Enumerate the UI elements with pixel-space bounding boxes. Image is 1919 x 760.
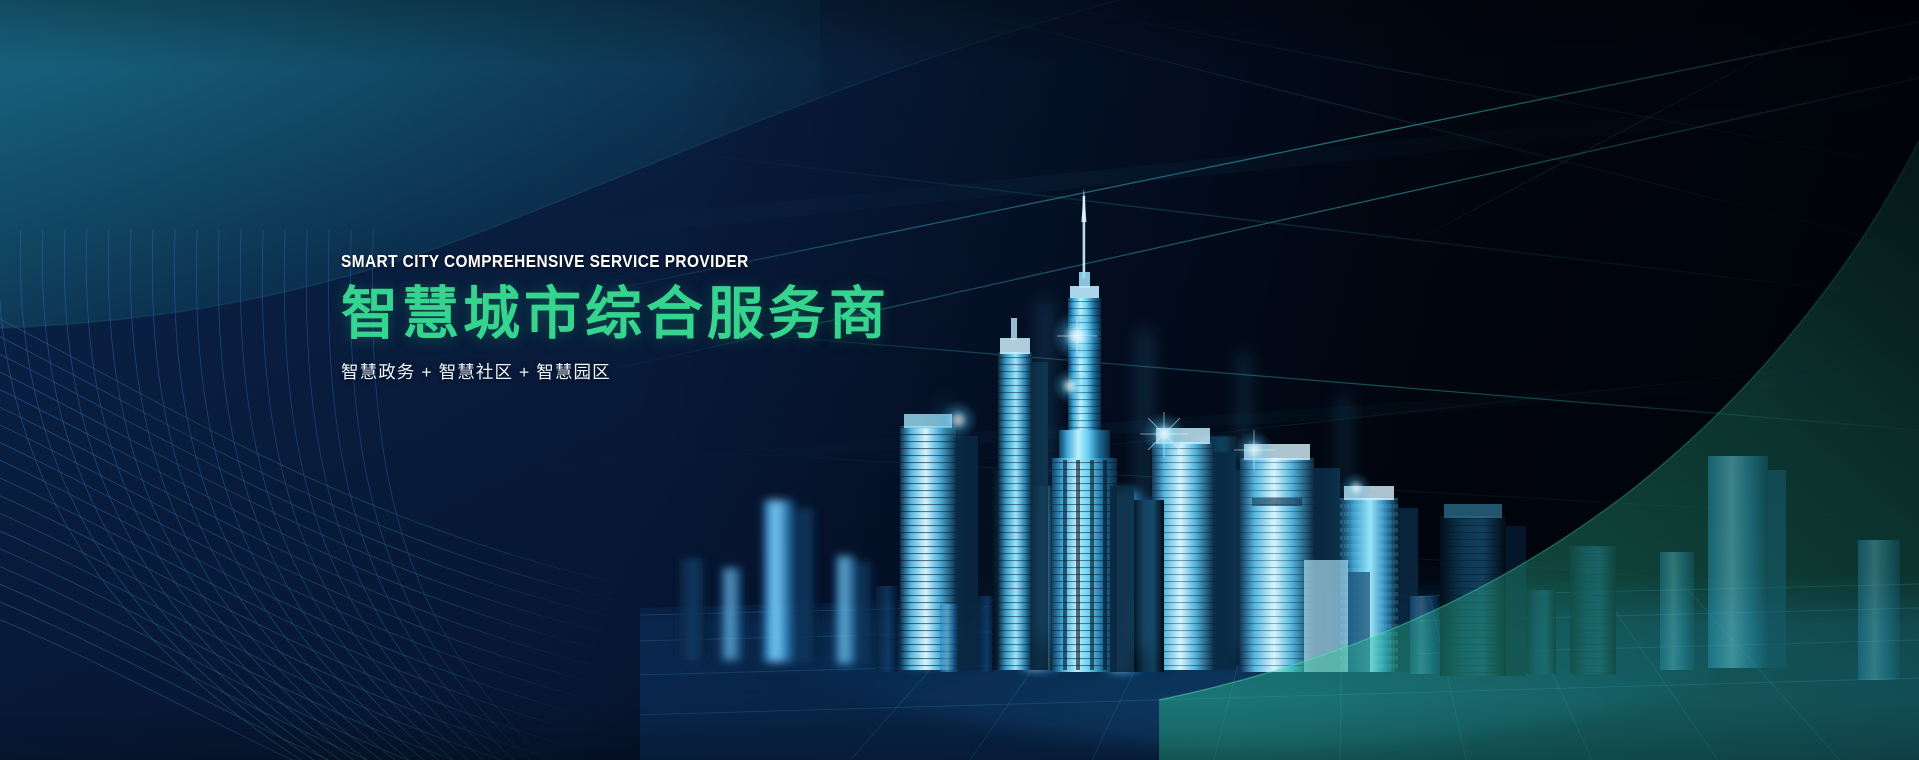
green-corner-sweep [1159, 140, 1919, 760]
smart-city-banner: SMART CITY COMPREHENSIVE SERVICE PROVIDE… [0, 0, 1919, 760]
tagline-text: 智慧政务 + 智慧社区 + 智慧园区 [341, 359, 1101, 384]
headline-block: SMART CITY COMPREHENSIVE SERVICE PROVIDE… [341, 252, 1101, 384]
page-title: 智慧城市综合服务商 [341, 284, 1101, 344]
eyebrow-text: SMART CITY COMPREHENSIVE SERVICE PROVIDE… [341, 252, 1010, 271]
